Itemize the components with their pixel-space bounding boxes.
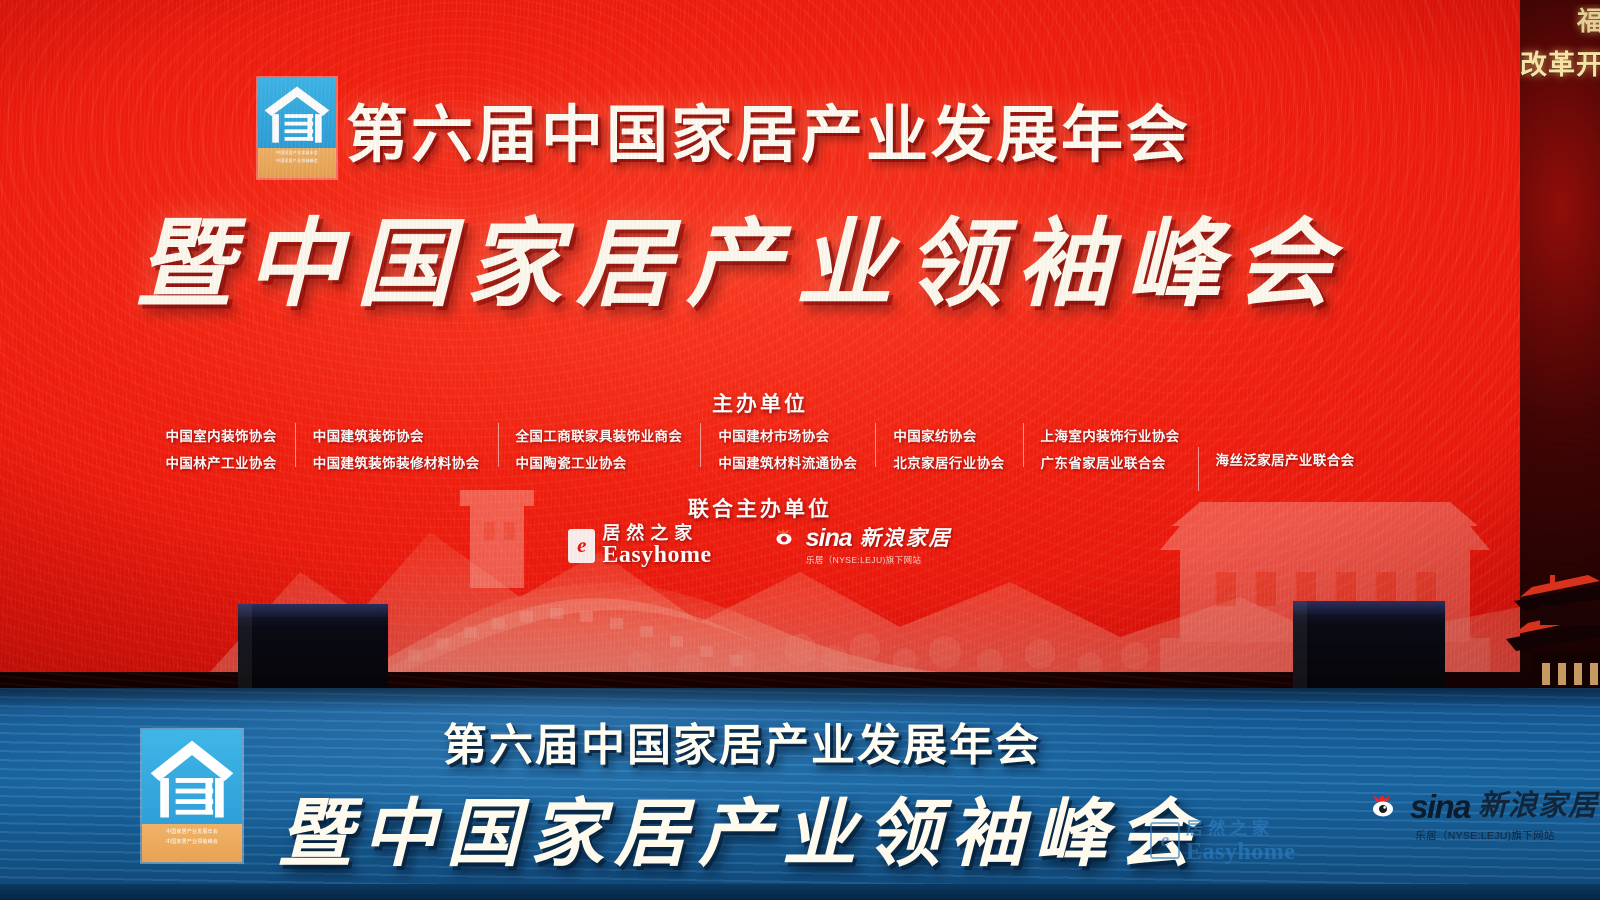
organizer-column: 中国室内装饰协会 中国林产工业协会 xyxy=(147,425,294,472)
organizer-column: 海丝泛家居产业联合会 xyxy=(1198,449,1373,469)
house-icon xyxy=(142,730,242,820)
led-screen: 中国家居产业发展年会 中国家居产业领袖峰会 第六届中国家居产业发展年会 暨中国家… xyxy=(0,0,1520,672)
sina-eye-icon xyxy=(1372,795,1402,819)
organizer-column: 中国家纺协会 北京家居行业协会 xyxy=(875,425,1022,472)
organizer-name: 中国建筑材料流通协会 xyxy=(718,452,857,472)
banner-sina-logo: sina 新浪家居 乐居（NYSE:LEJU)旗下网站 xyxy=(1372,790,1598,843)
co-organizers-title: 联合主办单位 xyxy=(0,493,1520,523)
stage-monitor-right xyxy=(1293,601,1445,690)
banner-badge-caption-line2: 中国家居产业领袖峰会 xyxy=(142,837,242,847)
banner-badge-bottom-panel: 中国家居产业发展年会 中国家居产业领袖峰会 xyxy=(142,824,242,862)
banner-badge-logo: 中国家居产业发展年会 中国家居产业领袖峰会 xyxy=(140,728,244,864)
organizer-name: 海丝泛家居产业联合会 xyxy=(1216,449,1355,469)
sina-home-logo: sina 新浪家居 乐居（NYSE:LEJU)旗下网站 xyxy=(776,526,952,566)
easyhome-watermark-chinese: 居然之家 xyxy=(1186,814,1295,839)
co-organizer-logos-row: e 居然之家 Easyhome sina 新浪家居 乐居（NYSE:LEJU)旗 xyxy=(0,524,1520,567)
organizer-name: 中国建材市场协会 xyxy=(718,425,857,445)
easyhome-watermark-english: Easyhome xyxy=(1186,839,1295,866)
banner-sina-subtitle: 乐居（NYSE:LEJU)旗下网站 xyxy=(1372,828,1598,843)
monitor-top-bevel xyxy=(238,604,388,617)
banner-top-shadow xyxy=(0,688,1600,710)
sina-english-name: sina xyxy=(806,526,852,551)
organizer-name: 北京家居行业协会 xyxy=(893,452,1004,472)
monitor-side-bevel xyxy=(1293,601,1307,690)
conference-badge-logo: 中国家居产业发展年会 中国家居产业领袖峰会 xyxy=(256,76,338,180)
sina-eye-icon xyxy=(776,529,798,547)
organizer-name: 中国室内装饰协会 xyxy=(165,425,276,445)
organizers-title: 主办单位 xyxy=(0,388,1520,418)
stage-front-banner: 中国家居产业发展年会 中国家居产业领袖峰会 第六届中国家居产业发展年会 暨中国家… xyxy=(0,688,1600,900)
sina-subtitle: 乐居（NYSE:LEJU)旗下网站 xyxy=(806,554,921,566)
stage-monitor-left xyxy=(238,604,388,690)
organizer-name: 中国建筑装饰协会 xyxy=(313,425,480,445)
easyhome-wordmark: 居然之家 Easyhome xyxy=(602,524,711,567)
easyhome-logo: e 居然之家 Easyhome xyxy=(568,524,711,567)
organizer-name: 中国林产工业协会 xyxy=(165,452,276,472)
easyhome-watermark-text: 居然之家 Easyhome xyxy=(1186,814,1295,866)
easyhome-english-name: Easyhome xyxy=(602,543,711,567)
organizer-column: 上海室内装饰行业协会 广东省家居业联合会 xyxy=(1023,425,1198,472)
organizer-name: 全国工商联家具装饰业商会 xyxy=(516,425,683,445)
banner-sina-english: sina xyxy=(1410,790,1470,823)
organizer-name: 中国家纺协会 xyxy=(893,425,1004,445)
easyhome-watermark: e 居然之家 Easyhome xyxy=(1150,814,1295,866)
banner-headline: 第六届中国家居产业发展年会 xyxy=(443,709,1041,773)
monitor-side-bevel xyxy=(238,604,252,690)
organizer-name: 广东省家居业联合会 xyxy=(1041,452,1180,472)
banner-sina-chinese: 新浪家居 xyxy=(1478,792,1598,821)
led-subline: 暨中国家居产业领袖峰会 xyxy=(136,186,1366,325)
badge-bottom-panel: 中国家居产业发展年会 中国家居产业领袖峰会 xyxy=(258,148,336,178)
sina-chinese-name: 新浪家居 xyxy=(860,528,952,549)
badge-caption-line1: 中国家居产业发展年会 xyxy=(258,148,336,156)
sina-logo-row: sina 新浪家居 xyxy=(776,526,952,551)
easyhome-watermark-mark-icon: e xyxy=(1150,822,1180,859)
banner-sina-logo-row: sina 新浪家居 xyxy=(1372,790,1598,823)
organizer-column: 中国建材市场协会 中国建筑材料流通协会 xyxy=(700,425,875,472)
badge-top-panel xyxy=(258,78,336,148)
organizers-row: 中国室内装饰协会 中国林产工业协会 中国建筑装饰协会 中国建筑装饰装修材料协会 … xyxy=(0,425,1520,472)
easyhome-mark-icon: e xyxy=(568,529,595,563)
organizer-name: 上海室内装饰行业协会 xyxy=(1041,425,1180,445)
easyhome-chinese-name: 居然之家 xyxy=(602,524,711,542)
led-headline: 第六届中国家居产业发展年会 xyxy=(346,84,1191,174)
banner-badge-caption-line1: 中国家居产业发展年会 xyxy=(142,824,242,837)
pagoda-structure xyxy=(1480,575,1600,690)
organizer-name: 中国陶瓷工业协会 xyxy=(516,452,683,472)
organizer-name: 中国建筑装饰装修材料协会 xyxy=(313,452,480,472)
badge-caption-line2: 中国家居产业领袖峰会 xyxy=(258,156,336,164)
led-subline-text: 暨中国家居产业领袖峰会 xyxy=(136,186,1346,325)
banner-badge-top-panel xyxy=(142,730,242,824)
house-icon xyxy=(258,78,336,145)
monitor-top-bevel xyxy=(1293,601,1445,614)
banner-subline-text: 暨中国家居产业领袖峰会 xyxy=(278,774,1202,881)
organizer-column: 全国工商联家具装饰业商会 中国陶瓷工业协会 xyxy=(498,425,701,472)
stage-floor-strip xyxy=(0,884,1600,900)
organizer-column: 中国建筑装饰协会 中国建筑装饰装修材料协会 xyxy=(295,425,498,472)
stage-photo: 福 改革开 xyxy=(0,0,1600,900)
